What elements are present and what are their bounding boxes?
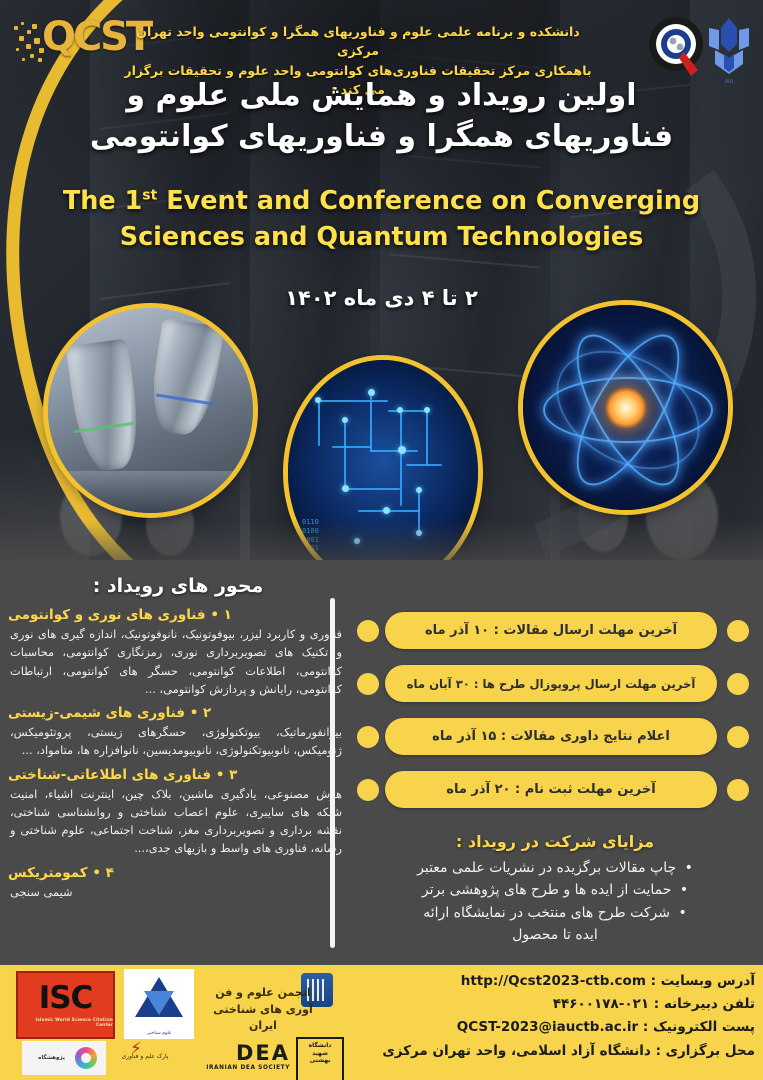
benefit-item: ایده تا محصول: [355, 924, 755, 946]
deadline-dot-left: [357, 673, 379, 695]
bullet-icon: •: [680, 882, 688, 898]
english-title: The 1st Event and Conference on Convergi…: [0, 183, 763, 255]
topic-body: فناوری و کاربرد لیزر، بیوفوتونیک، نانوفو…: [8, 625, 348, 698]
science-park-logo: ⚡ پارک علم و فناوری: [116, 1037, 174, 1077]
triangle-icon: [144, 991, 174, 1015]
topic-item: ۳ • فناوری های اطلاعاتی-شناختی هوش مصنوع…: [8, 767, 348, 858]
topic-body: شیمی سنجی: [8, 883, 348, 901]
topic-title-text: کمومتریکس: [8, 865, 88, 881]
deadline-pill: آخرین مهلت ارسال مقالات : ۱۰ آذر ماه: [385, 612, 717, 649]
deadline-pill: آخرین مهلت ثبت نام : ۲۰ آذر ماه: [385, 771, 717, 808]
topic-title-text: فناوری های اطلاعاتی-شناختی: [8, 767, 211, 783]
deadline-dot-right: [727, 673, 749, 695]
deadlines-section: آخرین مهلت ارسال مقالات : ۱۰ آذر ماه آخر…: [355, 612, 755, 824]
email-label: پست الکترونیک :: [643, 1019, 755, 1035]
persian-title-line-2: فناوریهای همگرا و فناوریهای کوانتومی: [0, 117, 763, 158]
topic-title: ۲ • فناوری های شیمی-زیستی: [8, 705, 348, 721]
topic-number: ۱: [224, 607, 232, 623]
qcst-logo: QCST: [12, 8, 134, 72]
deadline-dot-right: [727, 620, 749, 642]
english-title-line-1: The 1st Event and Conference on Convergi…: [0, 183, 763, 219]
secondary-institute-logo: پژوهشگاه: [22, 1041, 106, 1075]
benefits-heading: مزایای شرکت در رویداد :: [355, 832, 755, 851]
phone-line: تلفن دبیرخانه : ۰۲۱-۴۴۶۰۰۱۷۸: [335, 993, 755, 1016]
deadline-row: آخرین مهلت ثبت نام : ۲۰ آذر ماه: [355, 771, 755, 815]
isc-logo-text: ISC: [39, 983, 93, 1014]
deadline-dot-left: [357, 620, 379, 642]
benefit-item: • چاپ مقالات برگزیده در نشریات علمی معتب…: [355, 857, 755, 879]
deadline-pill: اعلام نتایج داوری مقالات : ۱۵ آذر ماه: [385, 718, 717, 755]
atom-image: [523, 305, 728, 510]
deadline-dot-left: [357, 726, 379, 748]
sponsor-logos: ISC Islamic World Science Citation Cente…: [4, 965, 334, 1080]
contact-info: آدرس وبسایت : http://Qcst2023-ctb.com تل…: [335, 970, 755, 1063]
association-name: انجمن علوم و فن آوری های شناختی ایران: [200, 985, 326, 1035]
topic-title-text: فناوری های شیمی-زیستی: [8, 705, 185, 721]
science-park-name: پارک علم و فناوری: [116, 1053, 174, 1061]
benefits-section: مزایای شرکت در رویداد : • چاپ مقالات برگ…: [355, 832, 755, 947]
venue-value: دانشگاه آزاد اسلامی، واحد تهران مرکزی: [382, 1043, 650, 1059]
benefit-item: • شرکت طرح های منتخب در نمایشگاه ارائه: [355, 902, 755, 924]
topic-body: بیوانفورماتیک، بیوتکنولوژی، حسگرهای زیست…: [8, 723, 348, 760]
topic-title: ۳ • فناوری های اطلاعاتی-شناختی: [8, 767, 348, 783]
footer: آدرس وبسایت : http://Qcst2023-ctb.com تل…: [0, 965, 763, 1080]
microscope-stage: [48, 471, 253, 513]
conference-poster: QCST IAU دانشکده و برنامه علمی علوم و فن…: [0, 0, 763, 1080]
english-title-prefix: The 1: [63, 186, 142, 216]
website-label: آدرس وبسایت :: [651, 973, 755, 989]
ordinal-suffix: st: [142, 188, 157, 204]
phone-label: تلفن دبیرخانه :: [654, 996, 755, 1012]
topic-number: ۳: [229, 767, 237, 783]
topic-number: ۲: [203, 705, 211, 721]
topic-item: ۴ • کمومتریکس شیمی سنجی: [8, 865, 348, 901]
venue-line: محل برگزاری : دانشگاه آزاد اسلامی، واحد …: [335, 1040, 755, 1063]
topic-number: ۴: [106, 865, 114, 881]
deadline-row: آخرین مهلت ارسال مقالات : ۱۰ آذر ماه: [355, 612, 755, 656]
shahid-beheshti-university-logo: دانشگاه شهید بهشتی: [296, 1037, 344, 1080]
dea-logo-subtitle: IRANIAN DEA SOCIETY: [174, 1065, 290, 1071]
deadline-dot-left: [357, 779, 379, 801]
column-divider: [330, 598, 335, 948]
topic-title: ۴ • کمومتریکس: [8, 865, 348, 881]
persian-title-line-1: اولین رویداد و همایش ملی علوم و: [0, 76, 763, 117]
dea-society-logo: DEA IRANIAN DEA SOCIETY: [174, 1041, 290, 1075]
dea-logo-text: DEA: [174, 1041, 290, 1065]
english-title-line-2: Sciences and Quantum Technologies: [0, 219, 763, 255]
benefit-item: • حمایت از ایده ها و طرح های پژوهشی برتر: [355, 879, 755, 901]
topic-item: ۲ • فناوری های شیمی-زیستی بیوانفورماتیک،…: [8, 705, 348, 760]
email-line: پست الکترونیک : QCST-2023@iauctb.ac.ir: [335, 1016, 755, 1039]
website-value[interactable]: http://Qcst2023-ctb.com: [461, 973, 646, 989]
topic-item: ۱ • فناوری های نوری و کوانتومی فناوری و …: [8, 607, 348, 698]
phone-value: ۰۲۱-۴۴۶۰۰۱۷۸: [553, 996, 649, 1012]
benefit-text: چاپ مقالات برگزیده در نشریات علمی معتبر: [417, 860, 676, 876]
bullet-icon: •: [678, 905, 686, 921]
topics-heading: محور های رویداد :: [8, 575, 348, 597]
topics-section: محور های رویداد : ۱ • فناوری های نوری و …: [8, 575, 348, 908]
university-name: دانشگاه شهید بهشتی: [301, 1042, 339, 1078]
deadline-dot-right: [727, 779, 749, 801]
deadline-pill: آخرین مهلت ارسال پروپوزال طرح ها : ۳۰ آب…: [385, 665, 717, 702]
colored-ring-icon: [75, 1047, 97, 1069]
isc-logo: ISC Islamic World Science Citation Cente…: [16, 971, 115, 1039]
benefit-text: ایده تا محصول: [512, 927, 598, 943]
benefit-text: حمایت از ایده ها و طرح های پژوهشی برتر: [422, 882, 671, 898]
cognitive-science-logo: علوم شناختی: [124, 969, 194, 1039]
website-line: آدرس وبسایت : http://Qcst2023-ctb.com: [335, 970, 755, 993]
deadline-dot-right: [727, 726, 749, 748]
persian-title: اولین رویداد و همایش ملی علوم و فناوریها…: [0, 76, 763, 157]
cognitive-logo-caption: علوم شناختی: [124, 1031, 194, 1036]
microscope-objectives-image: [48, 308, 253, 513]
english-title-rest: Event and Conference on Converging: [166, 186, 700, 216]
isc-logo-subtitle: Islamic World Science Citation Center: [18, 1017, 113, 1027]
deadline-row: آخرین مهلت ارسال پروپوزال طرح ها : ۳۰ آب…: [355, 665, 755, 709]
topic-title: ۱ • فناوری های نوری و کوانتومی: [8, 607, 348, 623]
bullet-icon: •: [685, 860, 693, 876]
email-value[interactable]: QCST-2023@iauctb.ac.ir: [457, 1019, 638, 1035]
institute-name: پژوهشگاه: [32, 1055, 72, 1062]
topic-body: هوش مصنوعی، یادگیری ماشین، بلاک چین، این…: [8, 785, 348, 858]
deadline-row: اعلام نتایج داوری مقالات : ۱۵ آذر ماه: [355, 718, 755, 762]
venue-label: محل برگزاری :: [656, 1043, 755, 1059]
topic-title-text: فناوری های نوری و کوانتومی: [8, 607, 206, 623]
benefit-text: شرکت طرح های منتخب در نمایشگاه ارائه: [423, 905, 670, 921]
host-line-1: دانشکده و برنامه علمی علوم و فناوریهای ه…: [123, 22, 593, 61]
atom-nucleus: [605, 387, 647, 429]
